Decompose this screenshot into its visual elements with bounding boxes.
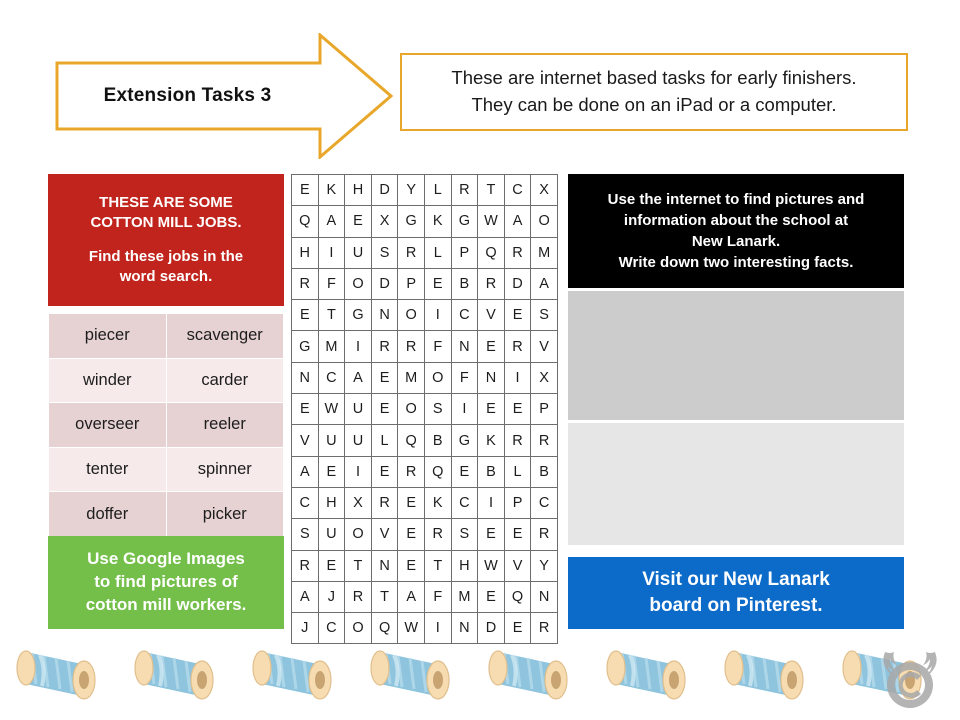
- pinterest-link-box[interactable]: Visit our New Lanark board on Pinterest.: [568, 557, 904, 629]
- word-search-cell: R: [345, 581, 372, 612]
- word-search-cell: S: [371, 237, 398, 268]
- table-row: doffer picker: [49, 492, 284, 537]
- thread-spool-icon: [10, 636, 106, 716]
- word-search-cell: C: [451, 487, 478, 518]
- word-search-cell: A: [292, 456, 319, 487]
- word-search-cell: R: [451, 175, 478, 206]
- internet-task-box: Use the internet to find pictures and in…: [568, 174, 904, 288]
- word-search-cell: E: [398, 519, 425, 550]
- word-search-cell: O: [345, 268, 372, 299]
- word-search-cell: Y: [531, 550, 558, 581]
- word-search-cell: O: [345, 519, 372, 550]
- word-search-cell: I: [345, 456, 372, 487]
- word-search-cell: F: [424, 331, 451, 362]
- job-word-cell: scavenger: [166, 314, 284, 359]
- word-search-cell: O: [424, 362, 451, 393]
- word-search-cell: R: [371, 331, 398, 362]
- jobs-header-line-3: Find these jobs in the: [89, 247, 243, 267]
- intro-line-2: They can be done on an iPad or a compute…: [471, 92, 836, 119]
- word-search-cell: R: [478, 268, 505, 299]
- jobs-header-line-1: THESE ARE SOME: [99, 193, 233, 213]
- word-search-cell: E: [318, 550, 345, 581]
- word-search-cell: X: [531, 175, 558, 206]
- job-word-cell: piecer: [49, 314, 167, 359]
- word-search-cell: R: [504, 331, 531, 362]
- word-search-cell: X: [371, 206, 398, 237]
- word-search-row: EWUEOSIEEP: [292, 394, 558, 425]
- google-box-line-2: to find pictures of: [94, 571, 238, 594]
- word-search-cell: I: [478, 487, 505, 518]
- pinterest-box-line-1: Visit our New Lanark: [642, 567, 830, 593]
- word-search-row: ETGNOICVES: [292, 300, 558, 331]
- word-search-cell: L: [424, 237, 451, 268]
- internet-box-line-1: Use the internet to find pictures and: [608, 189, 865, 210]
- word-search-row: AJRTAFMEQN: [292, 581, 558, 612]
- word-search-cell: I: [424, 300, 451, 331]
- word-search-cell: K: [318, 175, 345, 206]
- word-search-cell: E: [371, 394, 398, 425]
- word-search-cell: R: [398, 456, 425, 487]
- word-search-cell: K: [424, 487, 451, 518]
- table-row: winder carder: [49, 358, 284, 403]
- word-search-cell: S: [451, 519, 478, 550]
- word-search-cell: S: [424, 394, 451, 425]
- word-search-cell: F: [424, 581, 451, 612]
- word-search-cell: T: [424, 550, 451, 581]
- word-search-row: NCAEMOFNIX: [292, 362, 558, 393]
- word-search-cell: A: [531, 268, 558, 299]
- word-search-cell: R: [504, 237, 531, 268]
- thread-spool-icon: [718, 636, 814, 716]
- job-word-cell: overseer: [49, 403, 167, 448]
- word-search-cell: N: [371, 300, 398, 331]
- word-search-cell: A: [318, 206, 345, 237]
- jobs-header-line-2: COTTON MILL JOBS.: [90, 213, 241, 233]
- internet-box-line-3: New Lanark.: [692, 231, 780, 252]
- word-search-cell: Q: [424, 456, 451, 487]
- word-search-cell: L: [424, 175, 451, 206]
- word-search-cell: G: [451, 425, 478, 456]
- word-search-cell: X: [531, 362, 558, 393]
- word-search-cell: E: [478, 331, 505, 362]
- job-word-cell: reeler: [166, 403, 284, 448]
- word-search-cell: H: [451, 550, 478, 581]
- jobs-header-box: THESE ARE SOME COTTON MILL JOBS. Find th…: [48, 174, 284, 306]
- word-search-cell: O: [398, 300, 425, 331]
- word-search-cell: E: [478, 519, 505, 550]
- table-row: overseer reeler: [49, 403, 284, 448]
- word-search-cell: E: [398, 487, 425, 518]
- word-search-cell: W: [478, 206, 505, 237]
- word-search-cell: C: [451, 300, 478, 331]
- word-search-cell: R: [398, 331, 425, 362]
- word-search-cell: E: [504, 519, 531, 550]
- word-search-cell: E: [292, 300, 319, 331]
- word-search-cell: A: [398, 581, 425, 612]
- table-row: piecer scavenger: [49, 314, 284, 359]
- word-search-cell: M: [451, 581, 478, 612]
- banner-arrow: Extension Tasks 3: [55, 33, 393, 159]
- word-search-cell: R: [531, 425, 558, 456]
- word-search-cell: B: [478, 456, 505, 487]
- page-title: Extension Tasks 3: [55, 33, 320, 159]
- word-search-cell: S: [292, 519, 319, 550]
- table-row: tenter spinner: [49, 447, 284, 492]
- intro-text-box: These are internet based tasks for early…: [400, 53, 908, 131]
- word-search-cell: B: [424, 425, 451, 456]
- thread-spool-icon: [482, 636, 578, 716]
- word-search-cell: M: [398, 362, 425, 393]
- word-search-cell: L: [371, 425, 398, 456]
- word-search-cell: M: [531, 237, 558, 268]
- word-search-cell: T: [371, 581, 398, 612]
- word-search-cell: N: [531, 581, 558, 612]
- word-search-cell: V: [531, 331, 558, 362]
- job-word-cell: tenter: [49, 447, 167, 492]
- thread-spool-icon: [600, 636, 696, 716]
- word-search-cell: E: [371, 456, 398, 487]
- word-search-cell: I: [318, 237, 345, 268]
- word-search-cell: U: [318, 519, 345, 550]
- answer-box-fact-1[interactable]: [568, 291, 904, 420]
- word-search-cell: X: [345, 487, 372, 518]
- thread-spool-decoration-strip: [0, 632, 960, 720]
- word-search-cell: I: [504, 362, 531, 393]
- word-search-cell: W: [478, 550, 505, 581]
- word-search-cell: D: [504, 268, 531, 299]
- word-search-cell: R: [292, 550, 319, 581]
- thread-spool-icon: [128, 636, 224, 716]
- word-search-row: HIUSRLPQRM: [292, 237, 558, 268]
- job-word-cell: picker: [166, 492, 284, 537]
- word-search-cell: R: [424, 519, 451, 550]
- word-search-row: QAEXGKGWAO: [292, 206, 558, 237]
- word-search-cell: O: [531, 206, 558, 237]
- thread-spool-icon: [246, 636, 342, 716]
- word-search-cell: V: [371, 519, 398, 550]
- word-search-cell: G: [345, 300, 372, 331]
- intro-line-1: These are internet based tasks for early…: [451, 65, 856, 92]
- word-search-cell: H: [318, 487, 345, 518]
- word-search-cell: T: [478, 175, 505, 206]
- thread-spool-icon: [364, 636, 460, 716]
- word-search-cell: P: [531, 394, 558, 425]
- word-search-cell: S: [531, 300, 558, 331]
- word-search-cell: T: [318, 300, 345, 331]
- word-search-cell: G: [292, 331, 319, 362]
- word-search-cell: D: [371, 268, 398, 299]
- word-search-cell: B: [531, 456, 558, 487]
- word-search-cell: G: [398, 206, 425, 237]
- word-search-cell: A: [504, 206, 531, 237]
- word-search-cell: N: [478, 362, 505, 393]
- word-search-cell: R: [371, 487, 398, 518]
- word-search-cell: C: [504, 175, 531, 206]
- word-search-cell: C: [318, 362, 345, 393]
- word-search-cell: I: [451, 394, 478, 425]
- word-search-cell: U: [318, 425, 345, 456]
- word-search-row: EKHDYLRTCX: [292, 175, 558, 206]
- word-search-cell: N: [371, 550, 398, 581]
- pinterest-box-line-2: board on Pinterest.: [649, 593, 822, 619]
- word-search-cell: U: [345, 425, 372, 456]
- word-search-cell: A: [292, 581, 319, 612]
- word-search-row: CHXREKCIPC: [292, 487, 558, 518]
- internet-box-line-2: information about the school at: [624, 210, 848, 231]
- word-search-cell: V: [478, 300, 505, 331]
- word-search-row: SUOVERSEER: [292, 519, 558, 550]
- word-search-cell: G: [451, 206, 478, 237]
- word-search-row: GMIRRFNERV: [292, 331, 558, 362]
- word-search-cell: N: [292, 362, 319, 393]
- word-search-cell: R: [398, 237, 425, 268]
- word-search-cell: P: [398, 268, 425, 299]
- word-search-cell: Q: [478, 237, 505, 268]
- word-search-cell: R: [504, 425, 531, 456]
- word-search-cell: F: [318, 268, 345, 299]
- word-search-row: AEIERQEBLB: [292, 456, 558, 487]
- word-search-cell: P: [451, 237, 478, 268]
- word-search-cell: T: [345, 550, 372, 581]
- word-search-cell: Q: [504, 581, 531, 612]
- word-search-cell: E: [504, 394, 531, 425]
- word-search-cell: U: [345, 394, 372, 425]
- word-search-cell: O: [398, 394, 425, 425]
- google-images-task-box: Use Google Images to find pictures of co…: [48, 536, 284, 629]
- word-search-cell: E: [318, 456, 345, 487]
- word-search-cell: U: [345, 237, 372, 268]
- jobs-header-line-4: word search.: [120, 267, 213, 287]
- job-word-cell: winder: [49, 358, 167, 403]
- word-search-row: RETNETHWVY: [292, 550, 558, 581]
- word-search-cell: E: [398, 550, 425, 581]
- word-search-cell: I: [345, 331, 372, 362]
- word-search-cell: L: [504, 456, 531, 487]
- word-search-cell: E: [478, 581, 505, 612]
- word-search-cell: R: [531, 519, 558, 550]
- word-search-cell: R: [292, 268, 319, 299]
- word-search-cell: E: [451, 456, 478, 487]
- word-search-cell: F: [451, 362, 478, 393]
- word-search-cell: E: [292, 394, 319, 425]
- word-search-row: VUULQBGKRR: [292, 425, 558, 456]
- word-search-cell: Q: [398, 425, 425, 456]
- word-search-cell: E: [371, 362, 398, 393]
- word-search-cell: K: [478, 425, 505, 456]
- word-search-cell: M: [318, 331, 345, 362]
- job-word-cell: spinner: [166, 447, 284, 492]
- word-search-cell: E: [345, 206, 372, 237]
- word-search-cell: P: [504, 487, 531, 518]
- word-search-cell: V: [292, 425, 319, 456]
- word-search-cell: N: [451, 331, 478, 362]
- answer-box-fact-2[interactable]: [568, 423, 904, 545]
- word-search-cell: Q: [292, 206, 319, 237]
- word-search-cell: E: [478, 394, 505, 425]
- word-search-cell: K: [424, 206, 451, 237]
- word-search-cell: E: [424, 268, 451, 299]
- word-search-cell: H: [345, 175, 372, 206]
- word-search-cell: J: [318, 581, 345, 612]
- job-word-cell: carder: [166, 358, 284, 403]
- word-search-cell: H: [292, 237, 319, 268]
- word-search-cell: V: [504, 550, 531, 581]
- job-words-table: piecer scavenger winder carder overseer …: [48, 313, 284, 537]
- word-search-cell: W: [318, 394, 345, 425]
- copyright-watermark-icon: [868, 640, 952, 716]
- word-search-cell: Y: [398, 175, 425, 206]
- word-search-cell: D: [371, 175, 398, 206]
- google-box-line-3: cotton mill workers.: [86, 594, 247, 617]
- word-search-grid: EKHDYLRTCXQAEXGKGWAOHIUSRLPQRMRFODPEBRDA…: [291, 174, 558, 644]
- word-search-cell: C: [292, 487, 319, 518]
- word-search-row: RFODPEBRDA: [292, 268, 558, 299]
- word-search-cell: E: [292, 175, 319, 206]
- internet-box-line-4: Write down two interesting facts.: [619, 252, 854, 273]
- word-search-cell: E: [504, 300, 531, 331]
- job-word-cell: doffer: [49, 492, 167, 537]
- google-box-line-1: Use Google Images: [87, 548, 245, 571]
- word-search-cell: B: [451, 268, 478, 299]
- word-search-cell: A: [345, 362, 372, 393]
- word-search-cell: C: [531, 487, 558, 518]
